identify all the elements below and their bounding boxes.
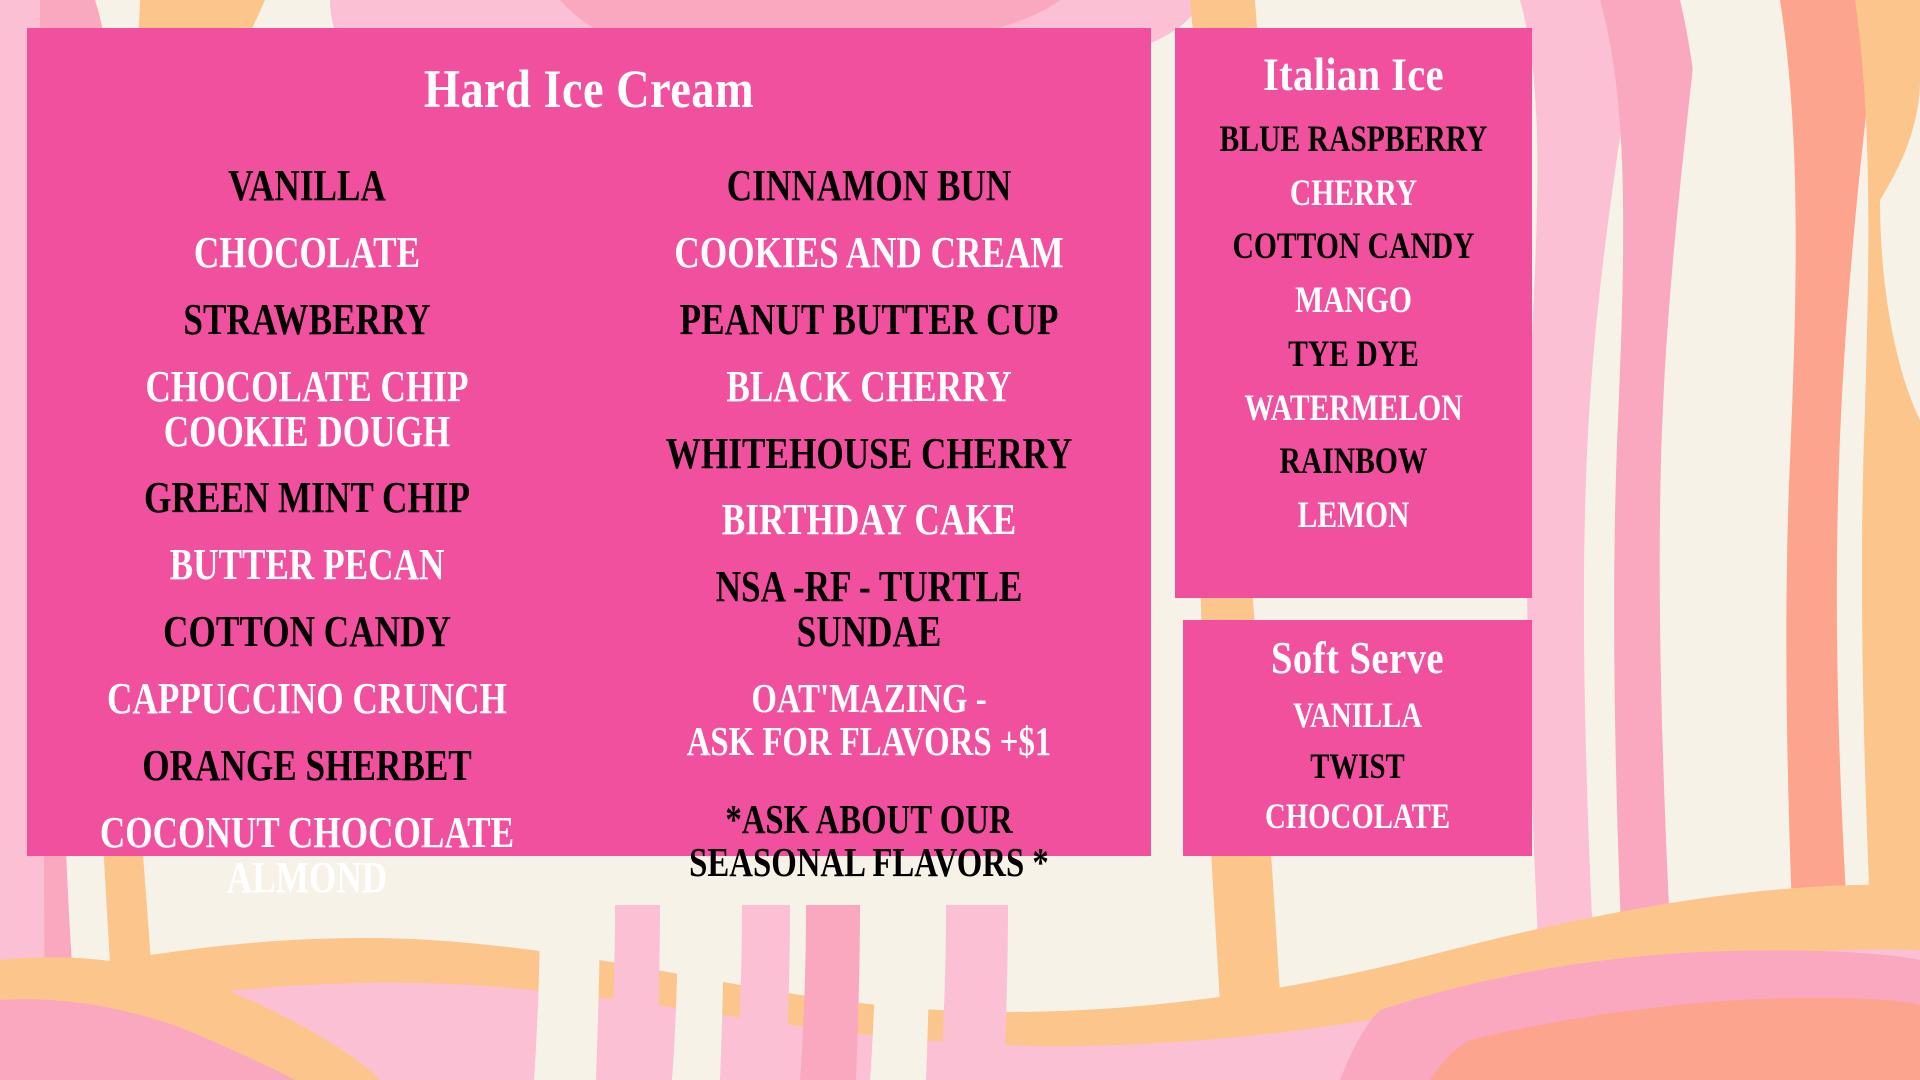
flavor-item: STRAWBERRY bbox=[88, 298, 526, 343]
flavor-item: CHOCOLATE CHIP COOKIE DOUGH bbox=[88, 365, 526, 455]
flavor-item: BLUE RASPBERRY bbox=[1211, 121, 1497, 159]
hard-ice-cream-panel: Hard Ice Cream VANILLACHOCOLATESTRAWBERR… bbox=[27, 28, 1151, 856]
flavor-item: LEMON bbox=[1211, 497, 1497, 535]
italian-ice-panel: Italian Ice BLUE RASPBERRYCHERRYCOTTON C… bbox=[1175, 28, 1532, 598]
flavor-item: VANILLA bbox=[1218, 697, 1497, 734]
seasonal-block: *ASK ABOUT OURSEASONAL FLAVORS * bbox=[648, 798, 1090, 885]
flavor-item: MANGO bbox=[1211, 282, 1497, 320]
hard-ice-cream-columns: VANILLACHOCOLATESTRAWBERRYCHOCOLATE CHIP… bbox=[27, 164, 1151, 923]
flavor-item: BUTTER PECAN bbox=[88, 543, 526, 588]
soft-serve-title: Soft Serve bbox=[1207, 636, 1507, 681]
flavor-item: CHOCOLATE bbox=[1218, 798, 1497, 835]
flavor-item: NSA -RF - TURTLE SUNDAE bbox=[648, 565, 1090, 655]
italian-ice-list: BLUE RASPBERRYCHERRYCOTTON CANDYMANGOTYE… bbox=[1175, 121, 1532, 535]
flavor-item: RAINBOW bbox=[1211, 443, 1497, 481]
flavor-item: CINNAMON BUN bbox=[648, 164, 1090, 209]
seasonal-block-line-1: *ASK ABOUT OUR bbox=[648, 798, 1090, 841]
flavor-item: TYE DYE bbox=[1211, 336, 1497, 374]
flavor-item: COOKIES AND CREAM bbox=[648, 231, 1090, 276]
flavor-item: GREEN MINT CHIP bbox=[88, 476, 526, 521]
flavor-item: COTTON CANDY bbox=[1211, 228, 1497, 266]
flavor-item: BIRTHDAY CAKE bbox=[648, 498, 1090, 543]
flavor-item: COCONUT CHOCOLATE ALMOND bbox=[88, 811, 526, 901]
flavor-item: BLACK CHERRY bbox=[648, 365, 1090, 410]
flavor-item: ORANGE SHERBET bbox=[88, 744, 526, 789]
soft-serve-list: VANILLATWISTCHOCOLATE bbox=[1183, 697, 1532, 835]
flavor-item: CAPPUCCINO CRUNCH bbox=[88, 677, 526, 722]
oat-block-line-1: OAT'MAZING - bbox=[648, 677, 1090, 720]
flavor-item: CHOCOLATE bbox=[88, 231, 526, 276]
flavor-item: TWIST bbox=[1218, 748, 1497, 785]
hard-ice-cream-title: Hard Ice Cream bbox=[106, 62, 1073, 116]
flavor-item: WHITEHOUSE CHERRY bbox=[648, 432, 1090, 477]
oat-block: OAT'MAZING -ASK FOR FLAVORS +$1 bbox=[648, 677, 1090, 764]
flavor-item: PEANUT BUTTER CUP bbox=[648, 298, 1090, 343]
flavor-item: CHERRY bbox=[1211, 175, 1497, 213]
soft-serve-panel: Soft Serve VANILLATWISTCHOCOLATE bbox=[1183, 620, 1532, 856]
hard-ice-cream-left-column: VANILLACHOCOLATESTRAWBERRYCHOCOLATE CHIP… bbox=[27, 164, 587, 923]
flavor-item: COTTON CANDY bbox=[88, 610, 526, 655]
seasonal-block-line-2: SEASONAL FLAVORS * bbox=[648, 841, 1090, 884]
oat-block-line-2: ASK FOR FLAVORS +$1 bbox=[648, 720, 1090, 763]
hard-ice-cream-right-column: CINNAMON BUNCOOKIES AND CREAMPEANUT BUTT… bbox=[587, 164, 1151, 885]
italian-ice-title: Italian Ice bbox=[1200, 52, 1507, 99]
menu-board: Hard Ice Cream VANILLACHOCOLATESTRAWBERR… bbox=[0, 0, 1920, 1080]
flavor-item: VANILLA bbox=[88, 164, 526, 209]
flavor-item: WATERMELON bbox=[1211, 390, 1497, 428]
